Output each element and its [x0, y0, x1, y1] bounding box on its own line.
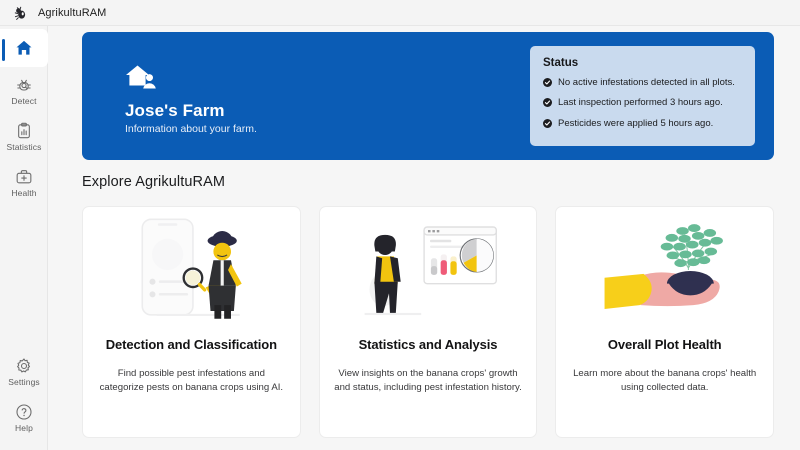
status-text: No active infestations detected in all p…	[558, 77, 735, 88]
card-description: Learn more about the banana crops' healt…	[556, 367, 773, 396]
card-statistics-and-analysis[interactable]: Statistics and Analysis View insights on…	[319, 206, 538, 438]
status-list-item: Last inspection performed 3 hours ago.	[543, 97, 742, 108]
sidebar-item-help[interactable]: Help	[0, 394, 48, 440]
status-text: Pesticides were applied 5 hours ago.	[558, 118, 713, 129]
person-dashboard-illustration	[320, 207, 537, 333]
window-title: AgrikultuRAM	[38, 7, 106, 19]
hand-soil-plant-illustration	[556, 207, 773, 333]
sidebar-item-statistics[interactable]: Statistics	[0, 113, 48, 159]
card-detection-and-classification[interactable]: Detection and Classification Find possib…	[82, 206, 301, 438]
farm-house-person-icon	[125, 64, 159, 94]
clipboard-chart-icon	[14, 121, 34, 141]
medical-kit-icon	[14, 167, 34, 187]
card-description: Find possible pest infestations and cate…	[83, 367, 300, 396]
farm-banner: Jose's Farm Information about your farm.…	[82, 32, 774, 160]
sidebar-item-label: Statistics	[6, 143, 41, 152]
sidebar-item-health[interactable]: Health	[0, 159, 48, 205]
sidebar-item-detect[interactable]: Detect	[0, 67, 48, 113]
status-title: Status	[543, 57, 742, 69]
question-circle-icon	[14, 402, 34, 422]
status-text: Last inspection performed 3 hours ago.	[558, 97, 723, 108]
sidebar-item-label: Detect	[11, 97, 36, 106]
sidebar-item-label: Help	[15, 424, 33, 433]
home-icon	[14, 38, 34, 58]
card-title: Detection and Classification	[100, 337, 283, 352]
explore-card-grid: Detection and Classification Find possib…	[82, 206, 774, 438]
card-overall-plot-health[interactable]: Overall Plot Health Learn more about the…	[555, 206, 774, 438]
sidebar-item-label: Settings	[8, 378, 40, 387]
sidebar: Detect Statistics	[0, 26, 48, 450]
phone-detective-illustration	[83, 207, 300, 333]
sidebar-item-label: Health	[11, 189, 36, 198]
check-circle-icon	[543, 119, 552, 128]
gear-icon	[14, 356, 34, 376]
app-root: AgrikultuRAM	[0, 0, 800, 450]
status-card: Status No active infestations detected i…	[530, 46, 755, 146]
banner-subtitle: Information about your farm.	[125, 123, 257, 135]
sidebar-bottom-group: Settings Help	[0, 348, 47, 450]
status-list-item: Pesticides were applied 5 hours ago.	[543, 118, 742, 129]
bug-search-icon	[14, 75, 34, 95]
main-content: Jose's Farm Information about your farm.…	[48, 26, 800, 450]
card-title: Statistics and Analysis	[353, 337, 504, 352]
sidebar-top-group: Detect Statistics	[0, 26, 47, 205]
card-title: Overall Plot Health	[602, 337, 728, 352]
status-list-item: No active infestations detected in all p…	[543, 77, 742, 88]
banner-title: Jose's Farm	[125, 101, 225, 121]
check-circle-icon	[543, 78, 552, 87]
card-description: View insights on the banana crops' growt…	[320, 367, 537, 396]
bug-icon	[13, 5, 29, 21]
sidebar-item-settings[interactable]: Settings	[0, 348, 48, 394]
explore-heading: Explore AgrikultuRAM	[82, 174, 225, 190]
window-titlebar: AgrikultuRAM	[0, 0, 800, 26]
sidebar-item-home[interactable]	[0, 29, 48, 67]
status-list: No active infestations detected in all p…	[543, 77, 742, 129]
check-circle-icon	[543, 98, 552, 107]
